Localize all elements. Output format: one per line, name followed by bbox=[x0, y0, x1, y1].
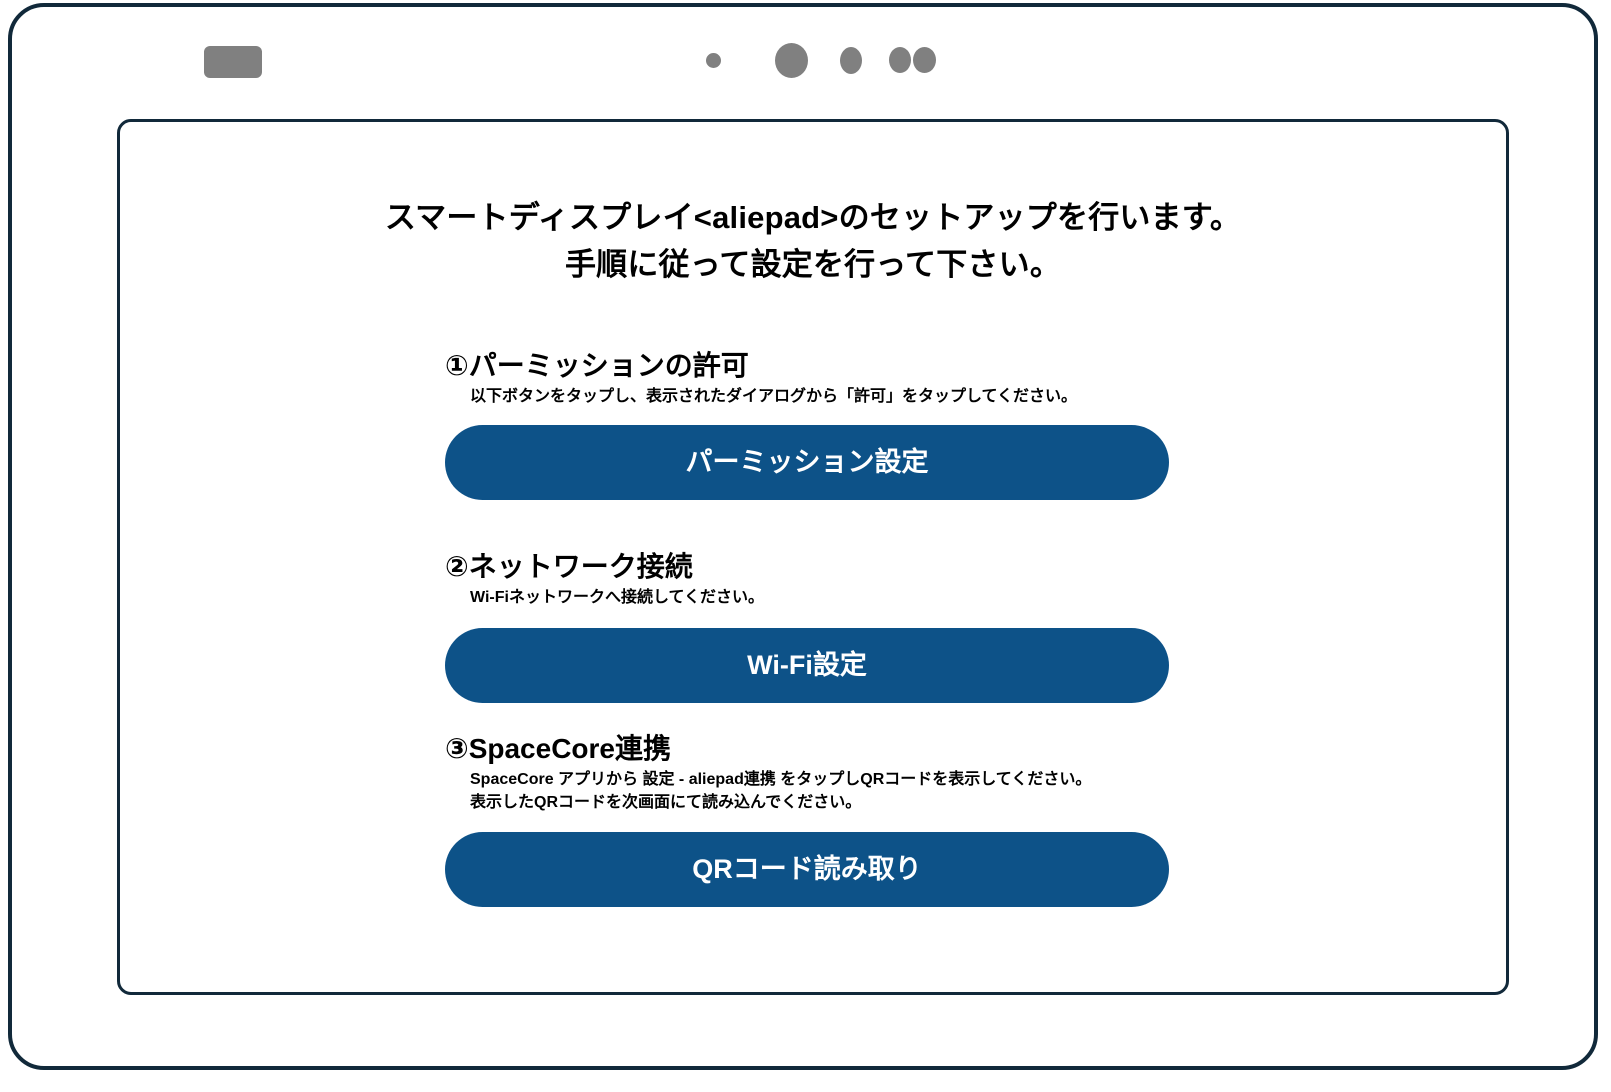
sensor-dot-icon bbox=[889, 47, 911, 73]
permission-settings-button[interactable]: パーミッション設定 bbox=[445, 425, 1169, 500]
step-description-spacecore: SpaceCore アプリから 設定 - aliepad連携 をタップしQRコー… bbox=[470, 768, 1185, 814]
step-description-line: Wi-Fiネットワークへ接続してください。 bbox=[470, 586, 1185, 609]
setup-step-network: ②ネットワーク接続 Wi-Fiネットワークへ接続してください。 Wi-Fi設定 bbox=[445, 550, 1185, 703]
step-description-line: 以下ボタンをタップし、表示されたダイアログから「許可」をタップしてください。 bbox=[470, 385, 1185, 408]
step-description-network: Wi-Fiネットワークへ接続してください。 bbox=[470, 586, 1185, 609]
front-camera-icon bbox=[775, 43, 808, 78]
sensor-dot-icon bbox=[840, 47, 862, 74]
step-description-line: 表示したQRコードを次画面にて読み込んでください。 bbox=[470, 791, 1185, 814]
step-description-permission: 以下ボタンをタップし、表示されたダイアログから「許可」をタップしてください。 bbox=[470, 385, 1185, 408]
setup-heading-line-2: 手順に従って設定を行って下さい。 bbox=[120, 241, 1506, 288]
step-description-line: SpaceCore アプリから 設定 - aliepad連携 をタップしQRコー… bbox=[470, 768, 1185, 791]
speaker-grille-icon bbox=[204, 46, 262, 78]
setup-step-spacecore: ③SpaceCore連携 SpaceCore アプリから 設定 - aliepa… bbox=[445, 732, 1185, 907]
sensor-dot-icon bbox=[706, 53, 721, 68]
sensor-dot-icon bbox=[913, 47, 936, 73]
device-top-sensor-bar bbox=[12, 7, 1594, 117]
qr-code-scan-button[interactable]: QRコード読み取り bbox=[445, 832, 1169, 907]
setup-heading: スマートディスプレイ<aliepad>のセットアップを行います。 手順に従って設… bbox=[120, 194, 1506, 288]
step-title-network: ②ネットワーク接続 bbox=[445, 550, 1185, 584]
setup-step-permission: ①パーミッションの許可 以下ボタンをタップし、表示されたダイアログから「許可」を… bbox=[445, 349, 1185, 500]
setup-screen-panel: スマートディスプレイ<aliepad>のセットアップを行います。 手順に従って設… bbox=[117, 119, 1509, 995]
setup-heading-line-1: スマートディスプレイ<aliepad>のセットアップを行います。 bbox=[120, 194, 1506, 241]
step-title-spacecore: ③SpaceCore連携 bbox=[445, 732, 1185, 766]
tablet-device-frame: スマートディスプレイ<aliepad>のセットアップを行います。 手順に従って設… bbox=[8, 3, 1598, 1070]
step-title-permission: ①パーミッションの許可 bbox=[445, 349, 1185, 383]
wifi-settings-button[interactable]: Wi-Fi設定 bbox=[445, 628, 1169, 703]
